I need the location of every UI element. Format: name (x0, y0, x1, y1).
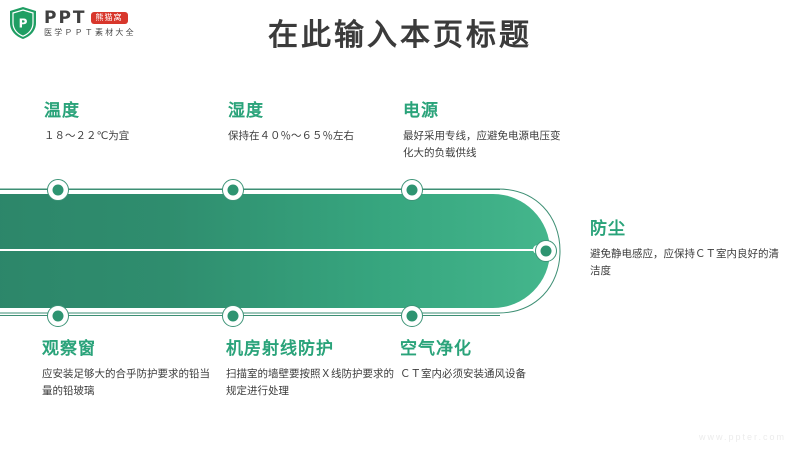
slide-canvas: P PPT 熊猫窝 医学ＰＰＴ素材大全 在此输入本页标题 温度 １８～２２℃为宜 (0, 0, 800, 450)
callout-radiation: 机房射线防护 扫描室的墙壁要按照Ｘ线防护要求的规定进行处理 (226, 338, 398, 399)
callout-body-air: ＣＴ室内必须安装通风设备 (400, 366, 600, 382)
callout-body-dust: 避免静电感应，应保持ＣＴ室内良好的清洁度 (590, 246, 780, 279)
callout-body-humidity: 保持在４０％～６５％左右 (228, 128, 393, 144)
footer-watermark: www.ppter.com (699, 432, 786, 442)
callout-dust: 防尘 避免静电感应，应保持ＣＴ室内良好的清洁度 (590, 218, 780, 279)
callout-title-window: 观察窗 (42, 338, 212, 359)
node-marker-window[interactable] (47, 305, 69, 327)
node-marker-air[interactable] (401, 305, 423, 327)
band-center-line (0, 249, 540, 251)
node-marker-radiation[interactable] (222, 305, 244, 327)
callout-body-temperature: １８～２２℃为宜 (44, 128, 209, 144)
node-marker-humidity[interactable] (222, 179, 244, 201)
callout-title-dust: 防尘 (590, 218, 780, 239)
band-shape (0, 194, 550, 308)
callout-body-radiation: 扫描室的墙壁要按照Ｘ线防护要求的规定进行处理 (226, 366, 398, 399)
callout-power: 电源 最好采用专线，应避免电源电压变化大的负载供线 (403, 100, 568, 161)
callout-title-air: 空气净化 (400, 338, 600, 359)
callout-title-temperature: 温度 (44, 100, 209, 121)
callout-body-power: 最好采用专线，应避免电源电压变化大的负载供线 (403, 128, 568, 161)
node-marker-temperature[interactable] (47, 179, 69, 201)
callout-air: 空气净化 ＣＴ室内必须安装通风设备 (400, 338, 600, 383)
callout-title-radiation: 机房射线防护 (226, 338, 398, 359)
callout-body-window: 应安装足够大的合乎防护要求的铅当量的铅玻璃 (42, 366, 212, 399)
callout-title-power: 电源 (403, 100, 568, 121)
callout-window: 观察窗 应安装足够大的合乎防护要求的铅当量的铅玻璃 (42, 338, 212, 399)
node-marker-dust[interactable] (535, 240, 557, 262)
callout-temperature: 温度 １８～２２℃为宜 (44, 100, 209, 145)
process-band (0, 186, 600, 316)
node-marker-power[interactable] (401, 179, 423, 201)
callout-title-humidity: 湿度 (228, 100, 393, 121)
page-title: 在此输入本页标题 (0, 18, 800, 54)
callout-humidity: 湿度 保持在４０％～６５％左右 (228, 100, 393, 145)
